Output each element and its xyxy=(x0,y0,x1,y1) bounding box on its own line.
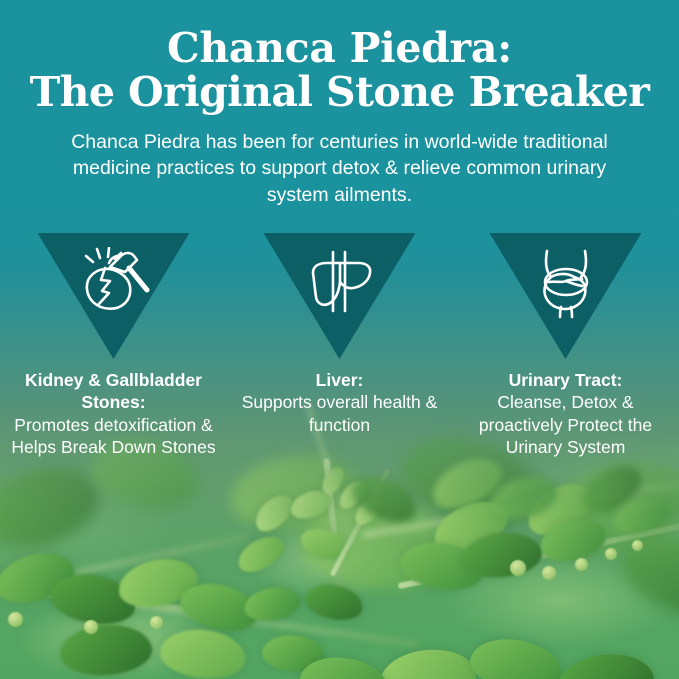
benefit-text-liver: Liver: Supports overall health & functio… xyxy=(227,369,453,436)
benefit-body: Cleanse, Detox & proactively Protect the… xyxy=(457,391,675,458)
benefit-text-kidney: Kidney & Gallbladder Stones: Promotes de… xyxy=(1,369,227,459)
header: Chanca Piedra: The Original Stone Breake… xyxy=(0,0,679,209)
icon-badge-kidney xyxy=(38,233,190,359)
benefit-columns: Kidney & Gallbladder Stones: Promotes de… xyxy=(0,233,679,459)
liver-icon xyxy=(300,247,380,324)
benefit-heading: Liver: xyxy=(231,369,449,391)
benefit-body: Supports overall health & function xyxy=(231,391,449,436)
chanca-piedra-infographic: Chanca Piedra: The Original Stone Breake… xyxy=(0,0,679,679)
benefit-column-liver: Liver: Supports overall health & functio… xyxy=(227,233,453,459)
icon-badge-urinary xyxy=(490,233,642,359)
title-line-1: Chanca Piedra: xyxy=(167,24,512,72)
page-subtitle: Chanca Piedra has been for centuries in … xyxy=(30,129,650,210)
benefit-heading: Urinary Tract: xyxy=(457,369,675,391)
stone-breaking-hammer-icon xyxy=(74,247,154,324)
icon-badge-liver xyxy=(264,233,416,359)
benefit-text-urinary: Urinary Tract: Cleanse, Detox & proactiv… xyxy=(453,369,679,459)
benefit-column-kidney-gallbladder: Kidney & Gallbladder Stones: Promotes de… xyxy=(1,233,227,459)
urinary-bladder-icon xyxy=(526,247,606,324)
page-title: Chanca Piedra: The Original Stone Breake… xyxy=(0,26,679,115)
benefit-column-urinary-tract: Urinary Tract: Cleanse, Detox & proactiv… xyxy=(453,233,679,459)
benefit-body: Promotes detoxification & Helps Break Do… xyxy=(5,414,223,459)
title-line-2: The Original Stone Breaker xyxy=(12,70,667,114)
benefit-heading: Kidney & Gallbladder Stones: xyxy=(5,369,223,414)
